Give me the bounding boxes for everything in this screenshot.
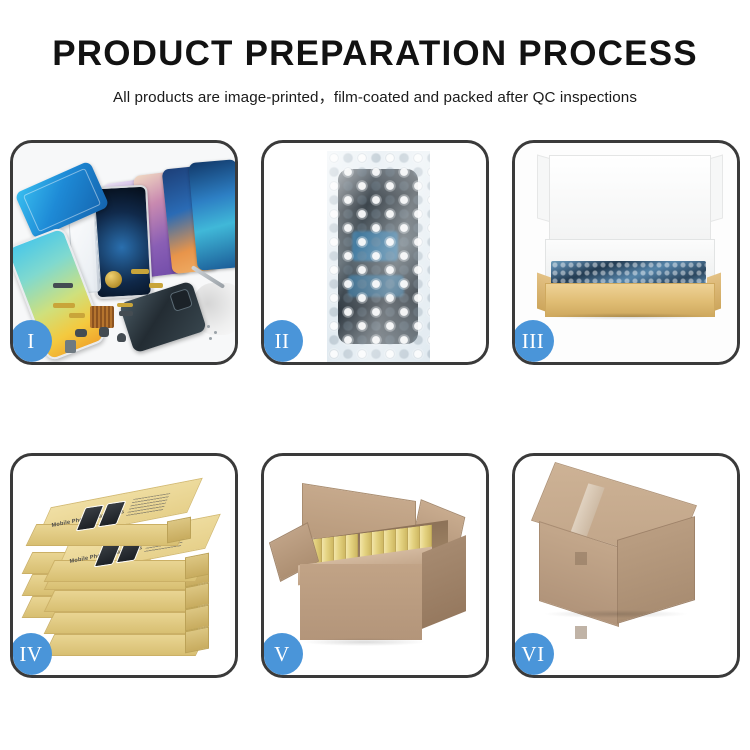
step-card-4[interactable]: Mobile Phone Spare Parts Mobile Phone Sp… bbox=[10, 453, 238, 678]
step-card-1[interactable]: I bbox=[10, 140, 238, 365]
step-badge-5: V bbox=[261, 633, 303, 675]
page-title: PRODUCT PREPARATION PROCESS bbox=[0, 0, 750, 73]
page-header: PRODUCT PREPARATION PROCESS All products… bbox=[0, 0, 750, 107]
step-badge-4: IV bbox=[10, 633, 52, 675]
step-badge-2: II bbox=[261, 320, 303, 362]
step-card-2[interactable]: II bbox=[261, 140, 489, 365]
step-card-5[interactable]: V bbox=[261, 453, 489, 678]
step-card-6[interactable]: VI bbox=[512, 453, 740, 678]
step-card-3[interactable]: III bbox=[512, 140, 740, 365]
step-badge-6: VI bbox=[512, 633, 554, 675]
page-subtitle: All products are image-printed，film-coat… bbox=[0, 73, 750, 107]
step-badge-1: I bbox=[10, 320, 52, 362]
process-steps-grid: I II III bbox=[10, 140, 740, 678]
step-badge-3: III bbox=[512, 320, 554, 362]
